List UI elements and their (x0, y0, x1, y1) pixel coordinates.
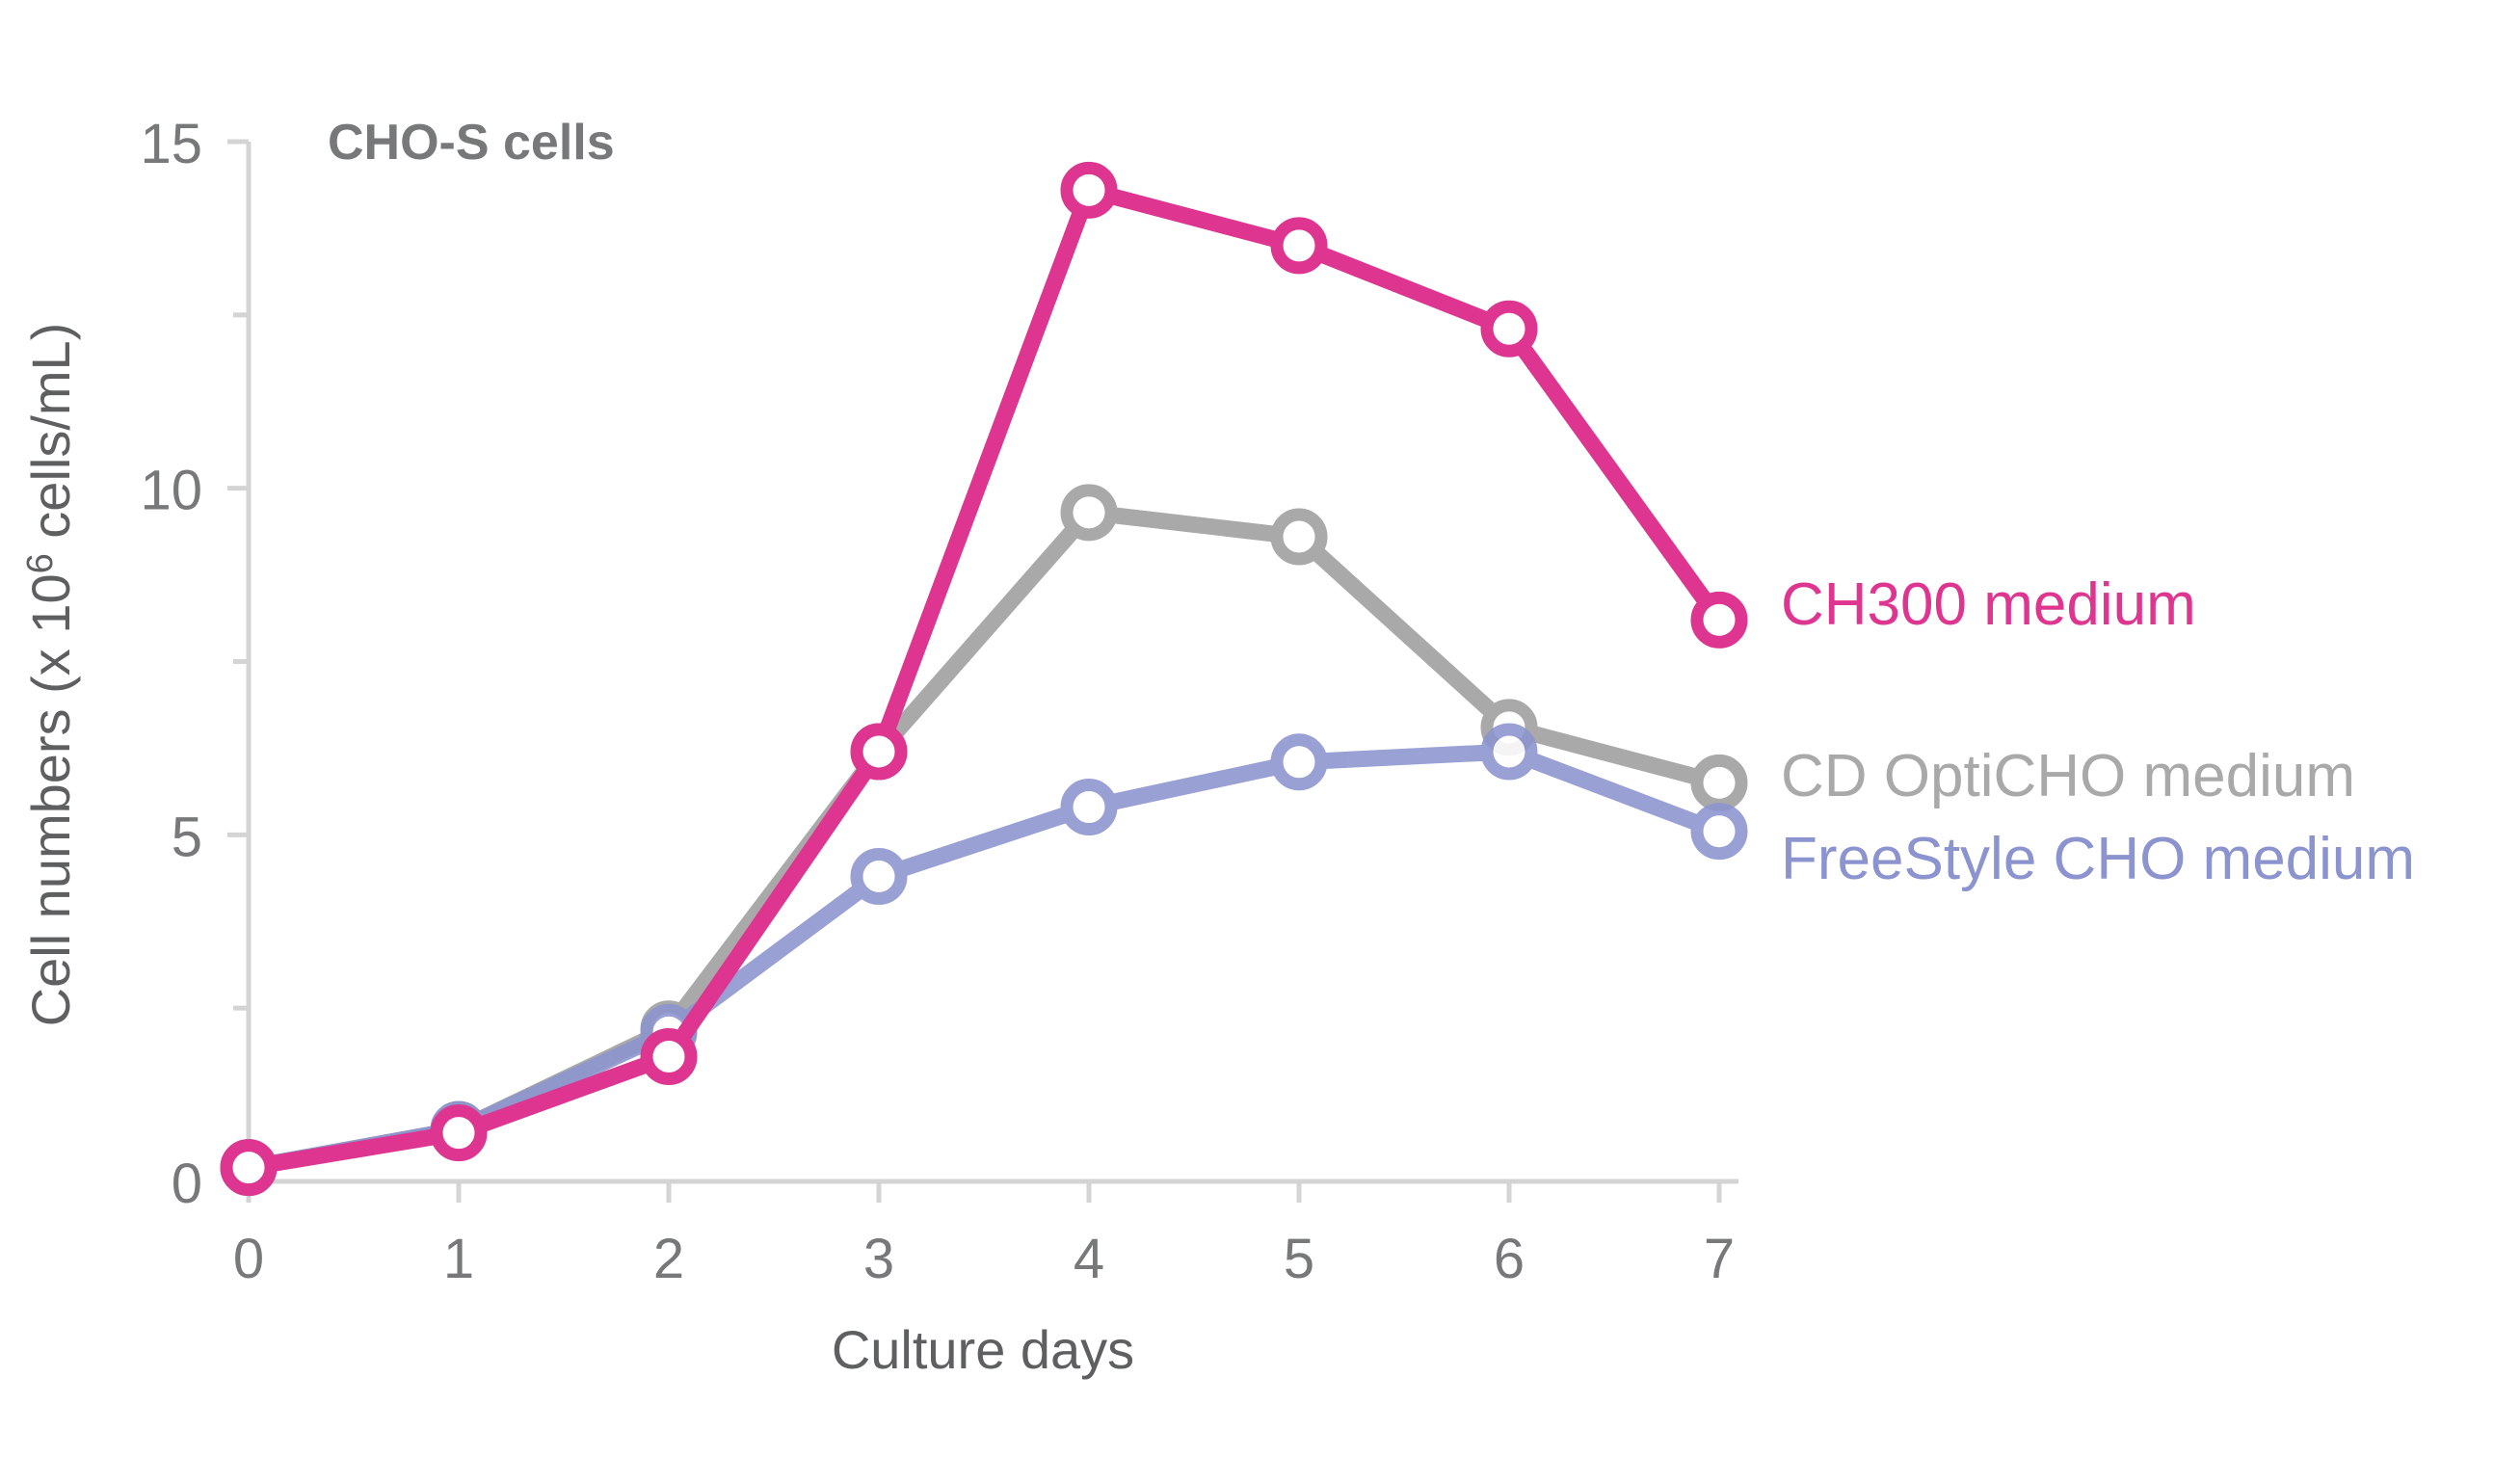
data-point-marker (647, 1035, 691, 1079)
y-axis-ticks (227, 142, 249, 1181)
data-point-marker (1487, 729, 1531, 774)
data-point-marker (226, 1146, 271, 1190)
data-point-marker (1697, 809, 1741, 854)
data-point-marker (1067, 490, 1111, 535)
x-axis-tick-label: 2 (653, 1228, 684, 1290)
data-series-layer (226, 168, 1741, 1189)
data-point-marker (1277, 515, 1321, 559)
y-axis-tick-label: 15 (140, 113, 202, 175)
y-axis-tick-label: 5 (172, 806, 202, 868)
data-point-marker (1487, 306, 1531, 351)
x-axis-tick-label: 6 (1494, 1228, 1525, 1290)
series-ch300-medium (226, 168, 1741, 1189)
data-point-marker (437, 1111, 481, 1155)
y-axis-tick-label: 0 (172, 1152, 202, 1215)
data-point-marker (1697, 597, 1741, 642)
y-axis-tick-labels: 051015 (140, 113, 202, 1215)
legend-label-3: FreeStyle CHO medium (1781, 826, 2415, 892)
x-axis-tick-label: 1 (443, 1228, 474, 1290)
y-axis-title-main: Cell numbers (x 10 (20, 573, 81, 1026)
y-axis-title: Cell numbers (x 106 cells/mL) (20, 323, 81, 1027)
data-point-marker (1277, 740, 1321, 784)
x-axis-title: Culture days (832, 1319, 1134, 1380)
x-axis-tick-label: 0 (233, 1228, 264, 1290)
data-point-marker (1067, 785, 1111, 830)
x-axis-tick-label: 3 (863, 1228, 894, 1290)
data-point-marker (857, 729, 901, 774)
y-axis-tick-label: 10 (140, 460, 202, 522)
legend: CH300 mediumCD OptiCHO mediumFreeStyle C… (1781, 571, 2415, 892)
x-axis-ticks (249, 1181, 1719, 1203)
data-point-marker (857, 854, 901, 898)
x-axis-tick-label: 4 (1074, 1228, 1104, 1290)
y-axis-title-superscript: 6 (20, 553, 61, 573)
data-point-marker (1067, 168, 1111, 212)
line-chart: 051015 01234567 CHO-S cells Culture days… (0, 0, 2520, 1457)
x-axis-tick-labels: 01234567 (233, 1228, 1735, 1290)
data-point-marker (1277, 224, 1321, 268)
chart-figure: 051015 01234567 CHO-S cells Culture days… (0, 0, 2520, 1457)
x-axis-tick-label: 7 (1704, 1228, 1735, 1290)
data-point-marker (1697, 760, 1741, 805)
legend-label-2: CD OptiCHO medium (1781, 743, 2355, 809)
legend-label-1: CH300 medium (1781, 571, 2196, 638)
plot-title: CHO-S cells (328, 115, 615, 171)
x-axis-tick-label: 5 (1284, 1228, 1314, 1290)
y-axis-title-tail: cells/mL) (20, 323, 81, 554)
